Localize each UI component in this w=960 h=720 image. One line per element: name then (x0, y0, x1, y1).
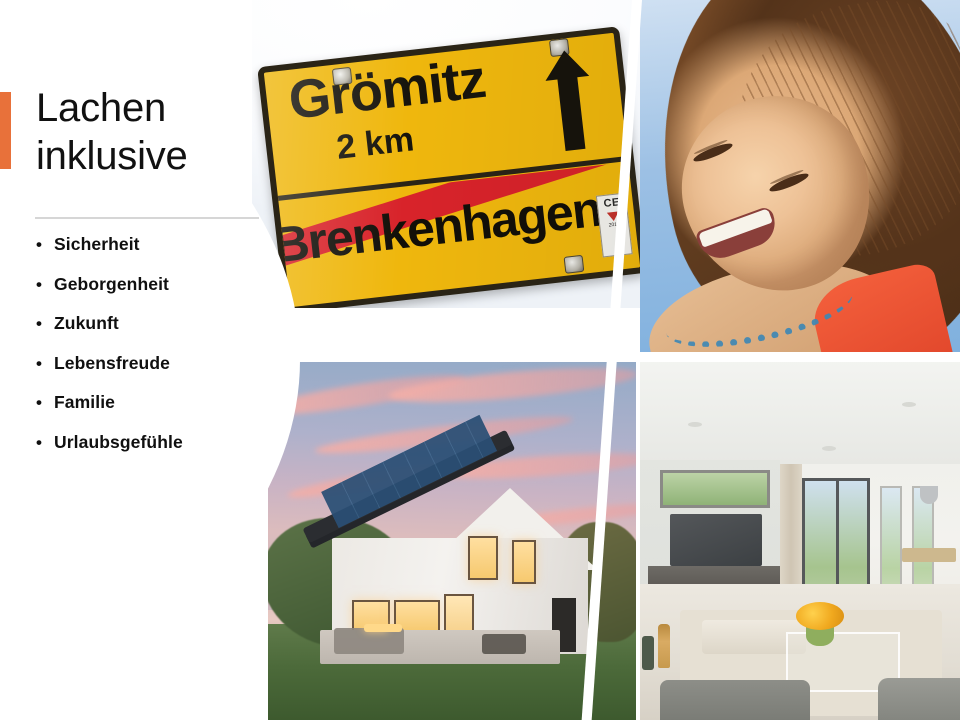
sign-distance-text: 2 km (335, 122, 416, 165)
photo-german-town-sign: Grömitz 2 km Brenkenhagen CE 2018 (252, 0, 640, 308)
bullet-dot-icon: • (36, 394, 54, 411)
ceiling (640, 360, 960, 464)
list-item-label: Sicherheit (54, 236, 140, 254)
presentation-slide: Grömitz 2 km Brenkenhagen CE 2018 (0, 0, 960, 720)
table-candles (364, 624, 388, 632)
list-item-label: Urlaubsgefühle (54, 434, 183, 452)
photo-living-room (640, 360, 960, 720)
lit-window (468, 536, 498, 580)
list-item-label: Geborgenheit (54, 276, 169, 294)
ceiling-spotlight (688, 422, 702, 427)
orange-accent-bar (0, 92, 11, 169)
cloud (387, 361, 636, 409)
list-item-label: Lebensfreude (54, 355, 170, 373)
list-item: • Zukunft (36, 315, 276, 333)
list-item: • Urlaubsgefühle (36, 434, 276, 452)
title-line-2: inklusive (36, 133, 268, 181)
wall-mounted-tv (670, 514, 762, 566)
sign-destination-text: Grömitz (286, 52, 488, 128)
page-title: Lachen inklusive (36, 85, 268, 180)
bullet-dot-icon: • (36, 276, 54, 293)
list-item: • Sicherheit (36, 236, 276, 254)
sofa-foreground (660, 680, 810, 720)
up-arrow-icon (541, 46, 598, 155)
title-divider (35, 217, 259, 219)
bullet-dot-icon: • (36, 434, 54, 451)
garden-bench (482, 634, 526, 654)
list-item: • Geborgenheit (36, 276, 276, 294)
sofa-right (878, 678, 960, 720)
ceiling-spotlight (902, 402, 916, 407)
amber-bottle (658, 624, 670, 668)
list-item-label: Zukunft (54, 315, 119, 333)
bullet-dot-icon: • (36, 236, 54, 253)
list-item-label: Familie (54, 394, 115, 412)
clerestory-window (660, 470, 770, 508)
ceiling-spotlight (822, 446, 836, 451)
lit-window (512, 540, 536, 584)
pendant-lamp (920, 486, 938, 504)
title-line-1: Lachen (36, 85, 268, 133)
dining-table (902, 548, 956, 562)
photo-smiling-girl (640, 0, 960, 356)
horizontal-photo-gutter (240, 352, 960, 362)
list-item: • Familie (36, 394, 276, 412)
feature-bullet-list: • Sicherheit • Geborgenheit • Zukunft • … (36, 236, 276, 473)
list-item: • Lebensfreude (36, 355, 276, 373)
dark-bottle (642, 636, 654, 670)
town-sign-plate: Grömitz 2 km Brenkenhagen CE 2018 (257, 26, 640, 308)
bullet-dot-icon: • (36, 315, 54, 332)
photo-modern-house (268, 360, 636, 720)
bullet-dot-icon: • (36, 355, 54, 372)
yellow-flower-bouquet (796, 602, 844, 630)
